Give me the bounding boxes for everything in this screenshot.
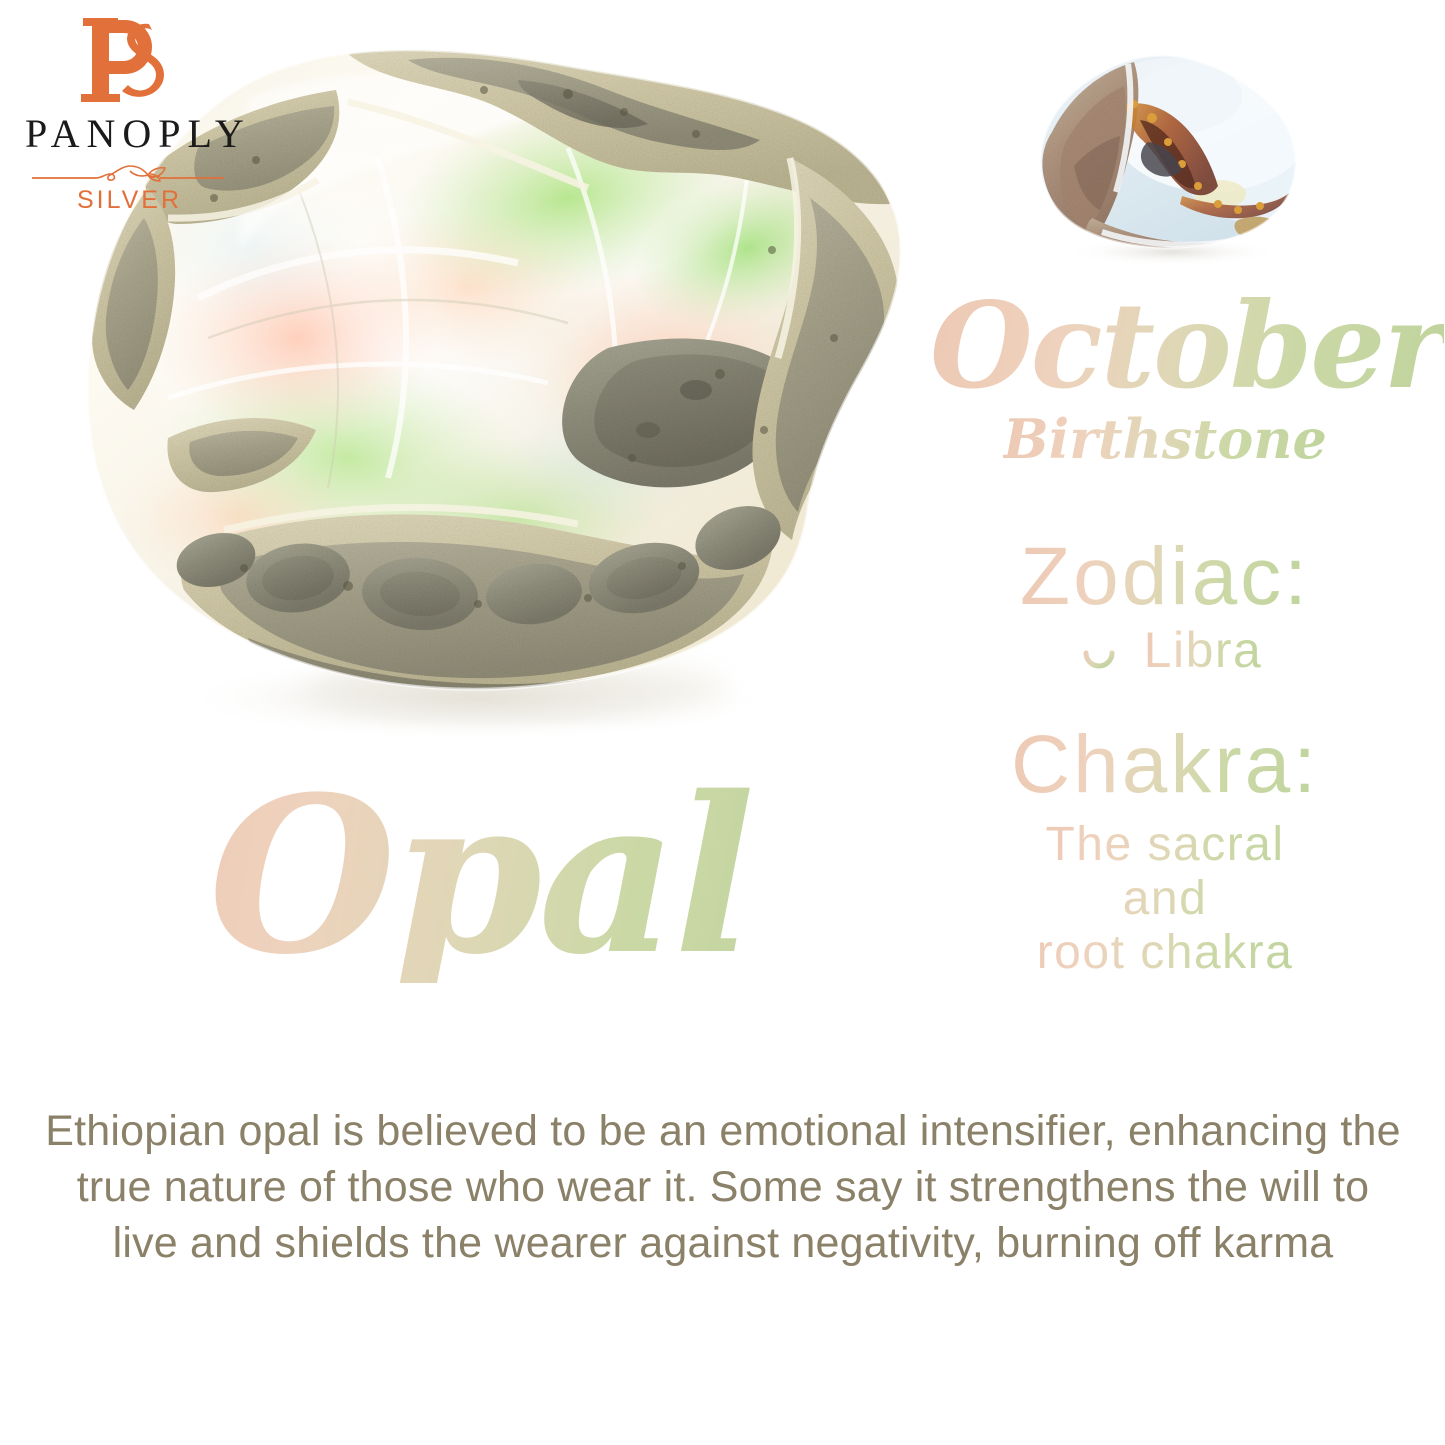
zodiac-label: Zodiac: [1020, 536, 1310, 618]
description-text: Ethiopian opal is believed to be an emot… [42, 1104, 1404, 1272]
chakra-value-line-2: and [1037, 872, 1294, 926]
libra-zodiac-icon [1068, 629, 1130, 671]
month-title: October [930, 286, 1444, 406]
chakra-value-line-1: The sacral [1037, 818, 1294, 872]
thumbnail-opal-image [1022, 46, 1312, 278]
gem-name: Opal [120, 768, 840, 983]
zodiac-value: Libra [1144, 624, 1263, 677]
brand-wordmark: PANOPLY [18, 114, 238, 154]
birthstone-details: October Birthstone Zodiac: [930, 286, 1400, 980]
birthstone-subtitle: Birthstone [1003, 410, 1327, 469]
chakra-value-line-3: root chakra [1037, 926, 1294, 980]
chakra-label: Chakra: [1011, 724, 1319, 806]
chakra-block: Chakra: The sacral and root chakra [930, 724, 1400, 979]
chakra-value: The sacral and root chakra [1037, 818, 1294, 979]
zodiac-block: Zodiac: Libra [930, 536, 1400, 677]
zodiac-value-row: Libra [930, 624, 1400, 677]
ps-monogram-icon [72, 8, 184, 112]
birthstone-infographic: PANOPLY SILVER [0, 0, 1445, 1445]
brand-logo: PANOPLY SILVER [18, 8, 238, 203]
brand-tagline: SILVER [18, 188, 238, 213]
